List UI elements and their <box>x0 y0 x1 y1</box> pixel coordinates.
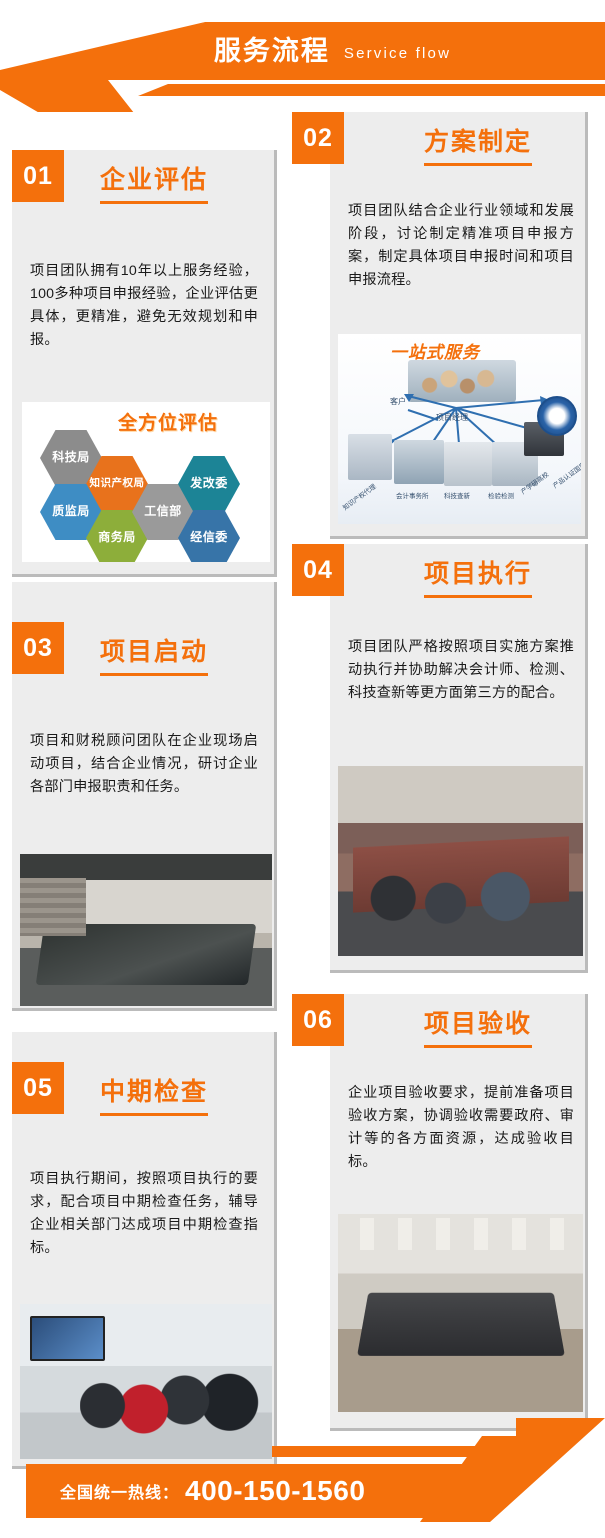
step-title: 项目执行 <box>424 562 532 598</box>
step-title: 中期检查 <box>100 1080 208 1116</box>
process-step-card-03: 03 项目启动 项目和财税顾问团队在企业现场启动项目，结合企业情况，研讨企业各部… <box>12 582 280 1014</box>
hotline-phone-number[interactable]: 400-150-1560 <box>185 1475 365 1507</box>
client-label: 客户 <box>390 396 406 407</box>
step-title: 企业评估 <box>100 168 208 204</box>
photo-meeting-room <box>20 854 272 1006</box>
one-stop-service-diagram: 一站式服务 <box>338 334 581 524</box>
service-flow-infographic: 服务流程 Service flow 01 企业评估 项目团队拥有10年以上服务经… <box>0 0 605 1538</box>
process-step-card-04: 04 项目执行 项目团队严格按照项目实施方案推动执行并协助解决会计师、检测、科技… <box>292 544 592 976</box>
partner-label-accounting: 会计事务所 <box>396 490 429 500</box>
header-title-group: 服务流程 Service flow <box>0 22 605 80</box>
step-description: 项目团队拥有10年以上服务经验，100多种项目申报经验，企业评估更具体，更精准，… <box>30 260 258 352</box>
hexagon-evaluation-diagram: 全方位评估 科技局 知识产权局 质监局 商务局 工信部 发改委 经信委 <box>22 402 270 562</box>
page-header: 服务流程 Service flow <box>0 0 605 112</box>
partner-thumbnail-accounting <box>394 440 444 484</box>
process-step-card-05: 05 中期检查 项目执行期间，按照项目执行的要求，配合项目中期检查任务，辅导企业… <box>12 1032 280 1472</box>
page-title-english: Service flow <box>344 41 451 61</box>
step-number-badge: 05 <box>12 1062 64 1114</box>
iso-certification-seal: ISO <box>537 396 577 436</box>
photo-showroom-visit <box>20 1304 272 1459</box>
project-manager-label: 项目经理 <box>436 412 468 423</box>
photo-working-session <box>338 766 583 956</box>
step-number-badge: 04 <box>292 544 344 596</box>
step-description: 项目团队结合企业行业领域和发展阶段，讨论制定精准项目申报方案，制定具体项目申报时… <box>348 200 574 292</box>
step-title: 项目启动 <box>100 640 208 676</box>
hotline-label: 全国统一热线： <box>60 1479 179 1503</box>
step-description: 企业项目验收要求，提前准备项目验收方案，协调验收需要政府、审计等的各方面资源，达… <box>348 1082 574 1174</box>
step-title: 项目验收 <box>424 1012 532 1048</box>
process-step-card-01: 01 企业评估 项目团队拥有10年以上服务经验，100多种项目申报经验，企业评估… <box>12 150 280 580</box>
step-description: 项目执行期间，按照项目执行的要求，配合项目中期检查任务，辅导企业相关部门达成项目… <box>30 1168 258 1260</box>
hotline-group: 全国统一热线： 400-150-1560 <box>60 1464 365 1518</box>
partner-thumbnail-ip-agency <box>348 434 392 480</box>
page-title: 服务流程 <box>214 38 330 65</box>
photo-boardroom <box>338 1214 583 1412</box>
hexagon-diagram-title: 全方位评估 <box>118 408 218 435</box>
step-title: 方案制定 <box>424 130 532 166</box>
step-description: 项目和财税顾问团队在企业现场启动项目，结合企业情况，研讨企业各部门申报职责和任务… <box>30 730 258 799</box>
step-number-badge: 03 <box>12 622 64 674</box>
step-number-badge: 06 <box>292 994 344 1046</box>
process-steps-grid: 01 企业评估 项目团队拥有10年以上服务经验，100多种项目申报经验，企业评估… <box>0 112 605 1412</box>
partner-thumbnail-tech-search <box>444 442 492 486</box>
step-number-badge: 01 <box>12 150 64 202</box>
partner-label-inspection: 检验检测 <box>488 490 514 500</box>
step-number-badge: 02 <box>292 112 344 164</box>
process-step-card-02: 02 方案制定 项目团队结合企业行业领域和发展阶段，讨论制定精准项目申报方案，制… <box>292 112 592 542</box>
partner-label-tech-search: 科技查新 <box>444 490 470 500</box>
process-step-card-06: 06 项目验收 企业项目验收要求，提前准备项目验收方案，协调验收需要政府、审计等… <box>292 994 592 1434</box>
step-description: 项目团队严格按照项目实施方案推动执行并协助解决会计师、检测、科技查新等更方面第三… <box>348 636 574 705</box>
